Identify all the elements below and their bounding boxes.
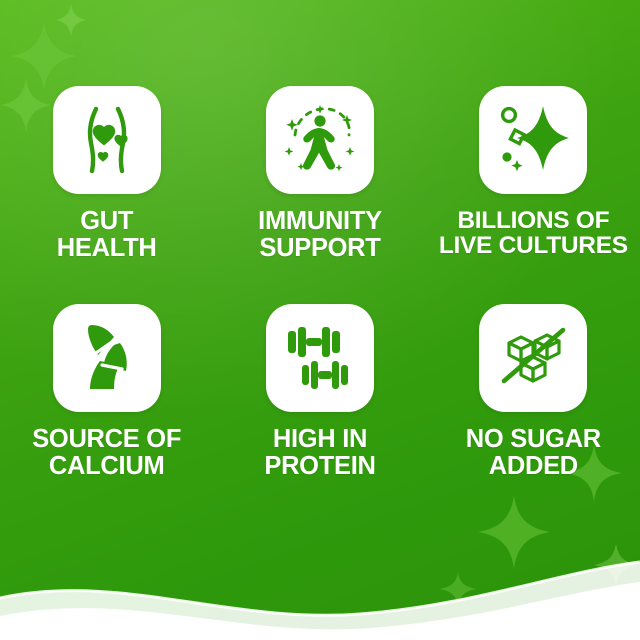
feature-label: IMMUNITY SUPPORT	[258, 208, 382, 261]
feature-label: NO SUGAR ADDED	[466, 426, 601, 479]
no-sugar-cubes-crossed-icon	[495, 323, 571, 393]
sparkle-icon	[436, 568, 482, 618]
icon-tile	[266, 86, 374, 194]
sparkle-icon	[592, 540, 640, 598]
feature-item: GUT HEALTH	[0, 86, 213, 304]
feature-item: BILLIONS OF LIVE CULTURES	[427, 86, 640, 304]
dumbbells-protein-icon	[280, 325, 360, 391]
feature-item: IMMUNITY SUPPORT	[213, 86, 426, 304]
sparkle-cultures-icon	[495, 102, 571, 178]
feature-label: SOURCE OF CALCIUM	[32, 426, 181, 479]
feature-item: SOURCE OF CALCIUM	[0, 304, 213, 522]
wave-decoration	[0, 520, 640, 640]
feature-item: NO SUGAR ADDED	[427, 304, 640, 522]
icon-tile	[479, 86, 587, 194]
promotional-poster: GUT HEALTH	[0, 0, 640, 640]
knee-joint-bone-icon	[70, 321, 144, 395]
feature-label: GUT HEALTH	[57, 208, 157, 261]
torso-hearts-gut-icon	[70, 103, 144, 177]
feature-label: HIGH IN PROTEIN	[264, 426, 375, 479]
icon-tile	[479, 304, 587, 412]
feature-item: HIGH IN PROTEIN	[213, 304, 426, 522]
icon-tile	[266, 304, 374, 412]
person-immunity-burst-icon	[281, 101, 359, 179]
sparkle-icon	[52, 0, 92, 44]
feature-grid: GUT HEALTH	[0, 86, 640, 522]
icon-tile	[53, 304, 161, 412]
feature-label: BILLIONS OF LIVE CULTURES	[439, 208, 628, 259]
icon-tile	[53, 86, 161, 194]
